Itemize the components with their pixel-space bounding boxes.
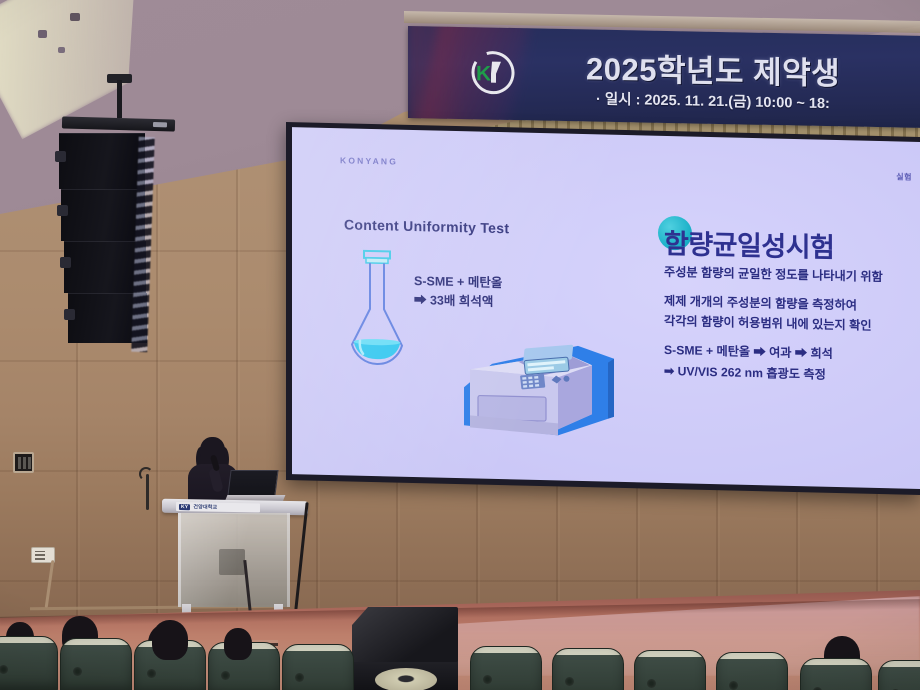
slide-body-line: S-SME + 메탄올 ➡ 여과 ➡ 희석 <box>664 342 920 366</box>
speaker-rigging-pin <box>55 151 66 162</box>
slide-brand-logo: KONYANG <box>340 155 398 166</box>
volumetric-flask-icon <box>340 240 418 370</box>
presentation-slide: KONYANG 실험 Content Uniformity Test S-SME… <box>292 127 920 489</box>
laptop[interactable] <box>226 470 284 504</box>
slide-body-line: 주성분 함량의 균일한 정도를 나타내기 위함 <box>664 264 920 288</box>
ceiling-sensor-icon <box>58 47 65 53</box>
slide-heading: 함량균일성시험 <box>664 222 834 265</box>
projection-screen-frame: KONYANG 실험 Content Uniformity Test S-SME… <box>286 122 920 495</box>
banner-swoosh-graphic-2 <box>408 26 463 128</box>
speaker-module <box>61 189 145 241</box>
svg-text:K: K <box>476 62 491 85</box>
seat <box>552 648 624 690</box>
auditorium-photo: K 2025학년도 제약생 · 일시 : 2025. 11. 21.(금) 10… <box>0 0 920 690</box>
spectrophotometer-illustration <box>440 329 622 453</box>
audience-seating <box>0 618 920 690</box>
seat <box>470 646 542 690</box>
podium-ky-mark: KY <box>179 504 190 510</box>
konyang-emblem-icon: K <box>470 49 516 96</box>
slide-body-text: 주성분 함량의 균일한 정도를 나타내기 위함 제제 개개의 주성분의 함량을 … <box>664 264 920 398</box>
seat <box>800 658 872 690</box>
lectern-podium: KY 건양대학교 <box>162 500 308 620</box>
podium-university-name: 건양대학교 <box>193 503 217 510</box>
slide-section-title: Content Uniformity Test <box>344 216 509 236</box>
event-banner: K 2025학년도 제약생 · 일시 : 2025. 11. 21.(금) 10… <box>408 26 920 128</box>
seat <box>878 660 920 690</box>
banner-date-line: · 일시 : 2025. 11. 21.(금) 10:00 ~ 18: <box>596 88 830 113</box>
wall-control-keypad[interactable] <box>13 452 34 473</box>
laptop-screen <box>227 470 278 496</box>
speaker-rigging-pin <box>64 309 75 320</box>
seat <box>716 652 788 690</box>
audience-head <box>152 620 188 660</box>
slide-corner-label: 실험 <box>896 171 912 182</box>
banner-title: 2025학년도 제약생 <box>586 43 840 93</box>
seat <box>60 638 132 690</box>
speaker-suspension-rod <box>117 80 122 118</box>
slide-body-line: ➡ UV/VIS 262 nm 흡광도 측정 <box>664 363 920 387</box>
ceiling-fixture-icon <box>38 30 47 38</box>
microphone-stand <box>146 474 149 510</box>
slide-body-line: 제제 개개의 주성분의 함량을 측정하여 <box>664 293 920 317</box>
speaker-module <box>59 133 145 189</box>
speaker-rigging-pin <box>57 205 68 216</box>
ceiling-anchor-icon <box>70 13 80 21</box>
audience-head <box>224 628 252 660</box>
seat <box>0 636 58 690</box>
slide-left-note: S-SME + 메탄올 ➡ 33배 희석액 <box>414 272 502 313</box>
seat <box>634 650 706 690</box>
seat <box>282 644 354 690</box>
podium-glass-reflection <box>178 513 290 607</box>
slide-body-line: 각각의 함량이 허용범위 내에 있는지 확인 <box>664 313 920 337</box>
speaker-rigging-pin <box>60 257 71 268</box>
line-array-speaker <box>57 133 147 363</box>
podium-logo-plate: KY 건양대학교 <box>176 502 260 512</box>
